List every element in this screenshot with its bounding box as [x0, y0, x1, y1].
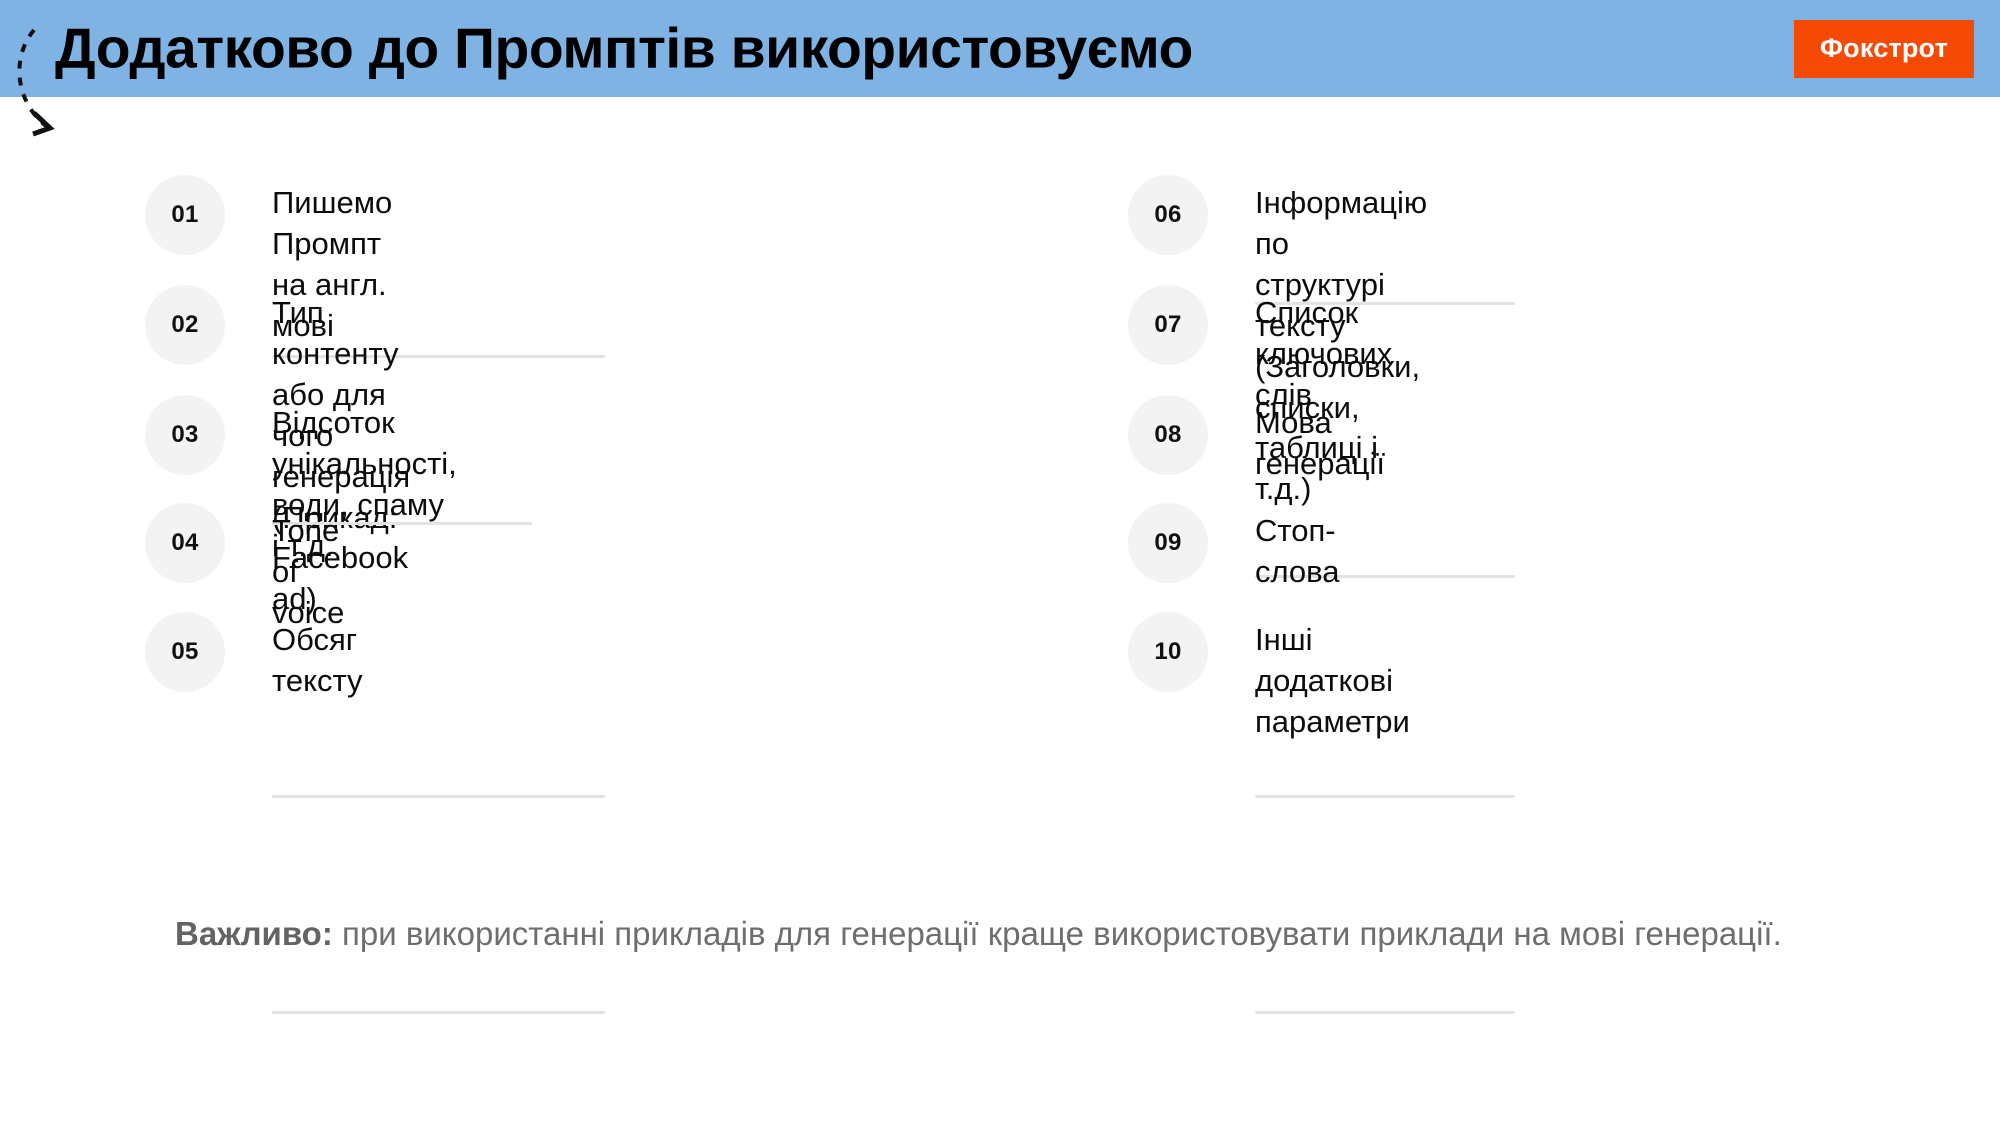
item-number-badge: 05: [145, 612, 225, 692]
item-number-badge: 10: [1128, 612, 1208, 692]
item-label: Обсяг тексту: [272, 620, 363, 702]
brand-logo-foxtrot: Фокстрот: [1794, 20, 1974, 78]
item-number-badge: 09: [1128, 503, 1208, 583]
item-divider: [1255, 1011, 1515, 1014]
item-divider: [272, 795, 605, 798]
item-divider: [272, 1011, 605, 1014]
slide-root: Додатково до Промптів використовуємо Фок…: [0, 0, 2000, 1125]
item-number-badge: 01: [145, 175, 225, 255]
item-label: Список ключових слів: [1255, 293, 1392, 416]
item-number-badge: 07: [1128, 285, 1208, 365]
item-label: Tone of voice: [272, 511, 344, 634]
item-label: Стоп-слова: [1255, 511, 1340, 593]
item-number-badge: 08: [1128, 395, 1208, 475]
item-number-badge: 06: [1128, 175, 1208, 255]
item-divider: [1255, 795, 1515, 798]
item-number-badge: 02: [145, 285, 225, 365]
footnote-text: при використанні прикладів для генерації…: [333, 915, 1782, 952]
header-band: Додатково до Промптів використовуємо Фок…: [0, 0, 2000, 97]
item-number-badge: 04: [145, 503, 225, 583]
item-number-badge: 03: [145, 395, 225, 475]
footnote: Важливо: при використанні прикладів для …: [175, 910, 1855, 958]
footnote-bold-label: Важливо:: [175, 915, 333, 952]
items-grid: 01 Пишемо Промпт на англ. мові 02 Тип ко…: [0, 97, 2000, 1125]
item-label: Мова генерації: [1255, 403, 1385, 485]
page-title: Додатково до Промптів використовуємо: [55, 20, 1193, 77]
item-label: Інші додаткові параметри: [1255, 620, 1410, 743]
